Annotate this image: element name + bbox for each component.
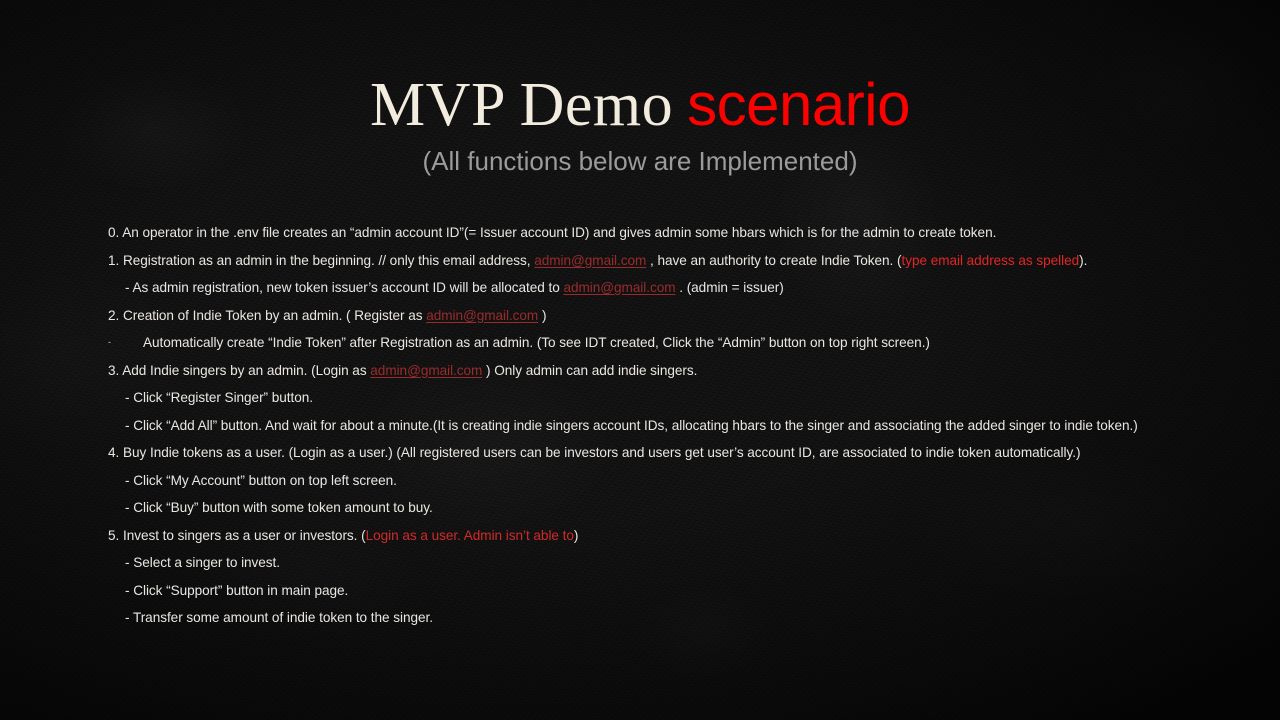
text-run: Automatically create “Indie Token” after… [143, 335, 930, 350]
text-run: . (admin = issuer) [676, 280, 784, 295]
text-run: 0. An operator in the .env file creates … [108, 225, 996, 240]
text-run: Login as a user. Admin isn’t able to [366, 528, 574, 543]
page-subtitle: (All functions below are Implemented) [0, 145, 1280, 178]
bullet-dash-icon: - [108, 329, 111, 357]
text-run: - Click “My Account” button on top left … [125, 473, 397, 488]
scenario-line: 2. Creation of Indie Token by an admin. … [0, 302, 1280, 330]
text-run: - Click “Add All” button. And wait for a… [125, 418, 1138, 433]
text-run: - Click “Register Singer” button. [125, 390, 313, 405]
scenario-line: 0. An operator in the .env file creates … [0, 219, 1280, 247]
scenario-line: -Automatically create “Indie Token” afte… [0, 329, 1280, 357]
text-run: type email address as spelled [901, 253, 1079, 268]
scenario-line: 1. Registration as an admin in the begin… [0, 247, 1280, 275]
scenario-line: 3. Add Indie singers by an admin. (Login… [0, 357, 1280, 385]
text-run: 1. Registration as an admin in the begin… [108, 253, 534, 268]
title-accent-text: scenario [687, 71, 910, 138]
text-run: , have an authority to create Indie Toke… [646, 253, 901, 268]
scenario-line: 4. Buy Indie tokens as a user. (Login as… [0, 439, 1280, 467]
scenario-line: - Click “My Account” button on top left … [0, 467, 1280, 495]
scenario-line: - Click “Register Singer” button. [0, 384, 1280, 412]
text-run: 2. Creation of Indie Token by an admin. … [108, 308, 426, 323]
slide-content: MVP Demoscenario (All functions below ar… [0, 0, 1280, 720]
scenario-line: - Click “Add All” button. And wait for a… [0, 412, 1280, 440]
text-run: ) [538, 308, 546, 323]
page-title: MVP Demoscenario [0, 74, 1280, 136]
text-run: - Click “Buy” button with some token amo… [125, 500, 433, 515]
presentation-slide: MVP Demoscenario (All functions below ar… [0, 0, 1280, 720]
title-main-text: MVP Demo [370, 71, 673, 139]
scenario-line: - As admin registration, new token issue… [0, 274, 1280, 302]
text-run: 4. Buy Indie tokens as a user. (Login as… [108, 445, 1080, 460]
text-run: - Click “Support” button in main page. [125, 583, 348, 598]
email-link[interactable]: admin@gmail.com [534, 253, 646, 268]
text-run: 3. Add Indie singers by an admin. (Login… [108, 363, 370, 378]
email-link[interactable]: admin@gmail.com [426, 308, 538, 323]
text-run: - Select a singer to invest. [125, 555, 280, 570]
text-run: ) [574, 528, 578, 543]
scenario-step-list: 0. An operator in the .env file creates … [0, 219, 1280, 632]
text-run: 5. Invest to singers as a user or invest… [108, 528, 366, 543]
text-run: - As admin registration, new token issue… [125, 280, 563, 295]
scenario-line: 5. Invest to singers as a user or invest… [0, 522, 1280, 550]
text-run: - Transfer some amount of indie token to… [125, 610, 433, 625]
scenario-line: - Select a singer to invest. [0, 549, 1280, 577]
scenario-line: - Click “Buy” button with some token amo… [0, 494, 1280, 522]
email-link[interactable]: admin@gmail.com [370, 363, 482, 378]
text-run: ). [1079, 253, 1087, 268]
scenario-line: - Click “Support” button in main page. [0, 577, 1280, 605]
text-run: ) Only admin can add indie singers. [482, 363, 697, 378]
email-link[interactable]: admin@gmail.com [563, 280, 675, 295]
scenario-line: - Transfer some amount of indie token to… [0, 604, 1280, 632]
